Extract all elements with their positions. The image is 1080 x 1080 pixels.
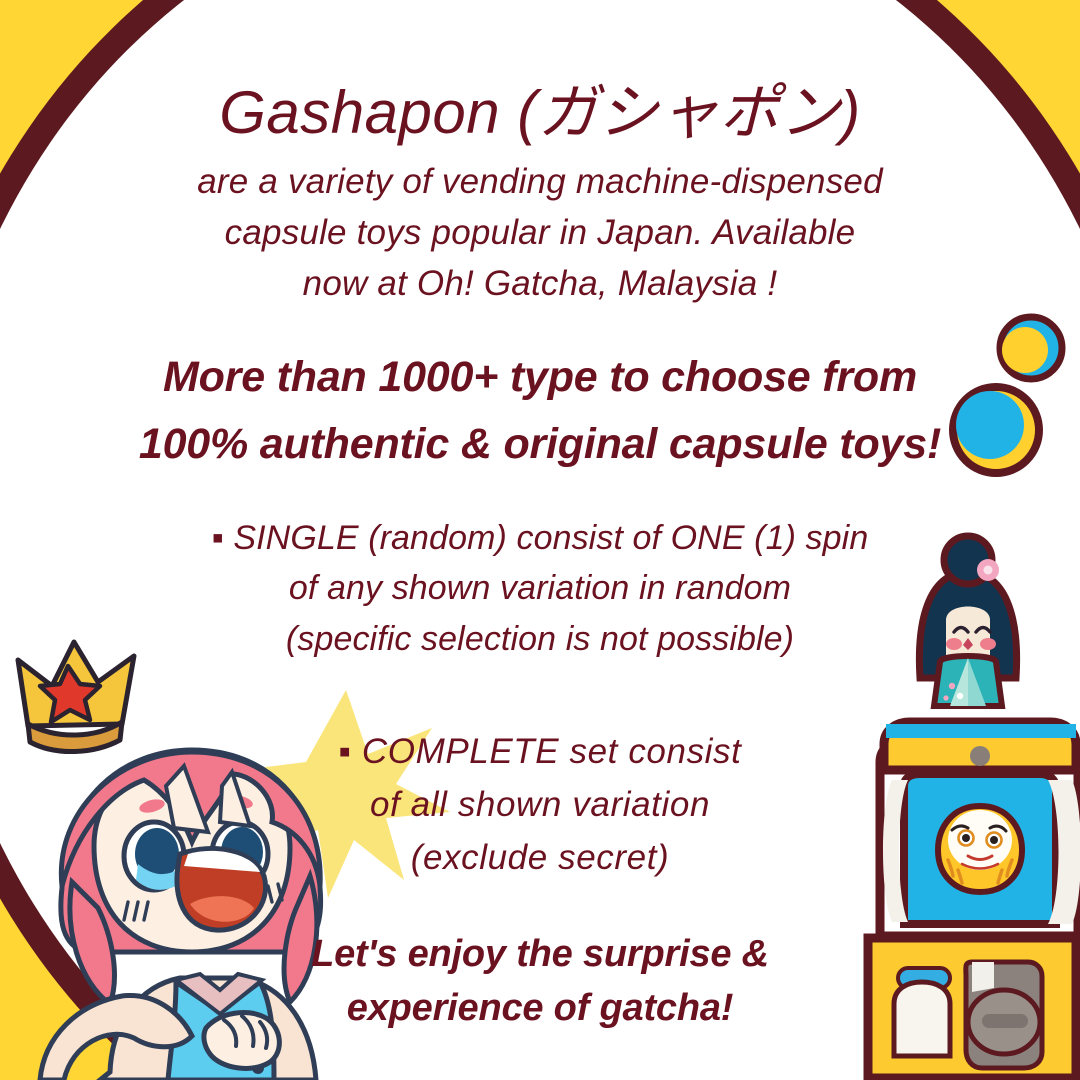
poster-canvas: Gashapon (ガシャポン) are a variety of vendin…	[0, 0, 1080, 1080]
page-title: Gashapon (ガシャポン)	[0, 78, 1080, 148]
intro-paragraph: are a variety of vending machine-dispens…	[0, 157, 1080, 309]
bullet-complete-option: ▪ COMPLETE set consist of all shown vari…	[0, 725, 1080, 885]
highlight-callout: More than 1000+ type to choose from 100%…	[0, 344, 1080, 477]
bullet-single-option: ▪ SINGLE (random) consist of ONE (1) spi…	[0, 513, 1080, 664]
closing-tagline: Let's enjoy the surprise & experience of…	[0, 928, 1080, 1036]
text-content-layer: Gashapon (ガシャポン) are a variety of vendin…	[0, 0, 1080, 1080]
